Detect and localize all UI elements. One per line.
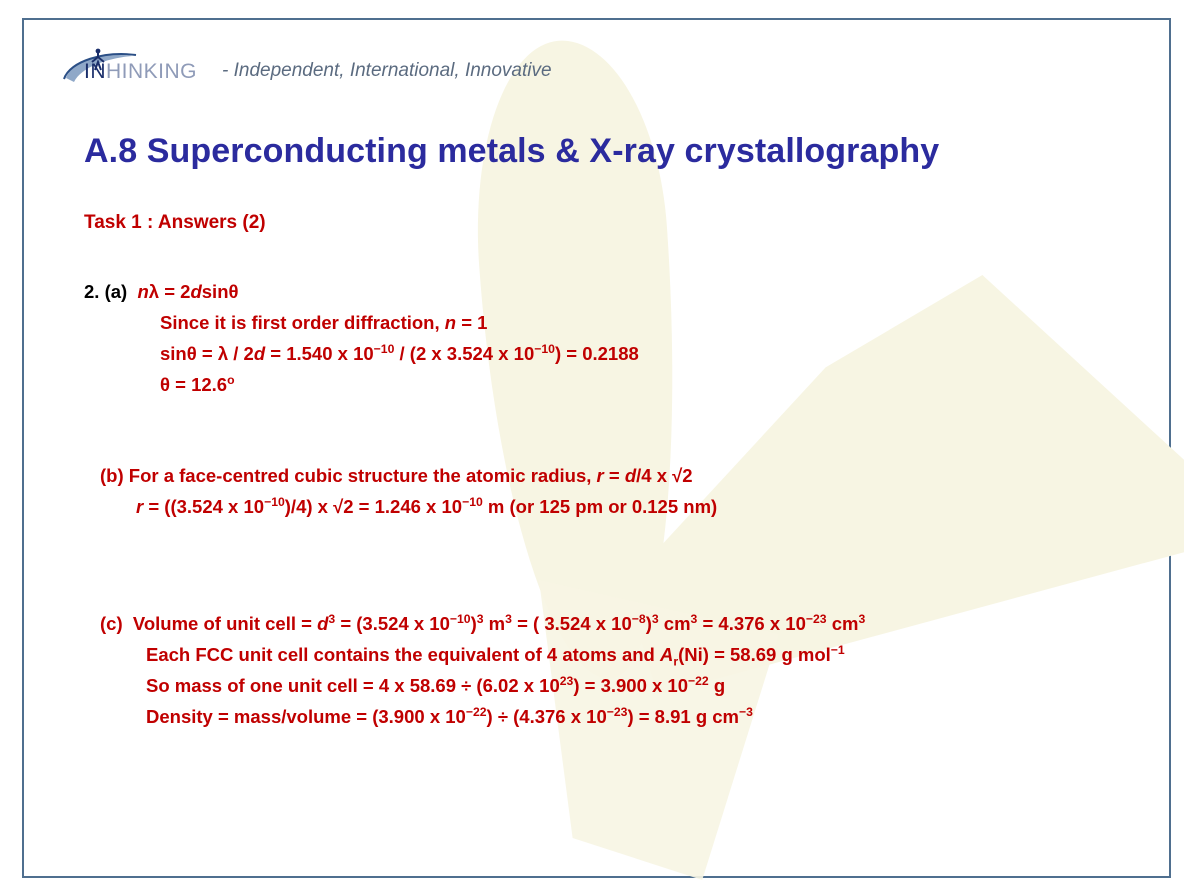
answer-2a-line1: 2. (a) nλ = 2dsinθ [84,276,639,307]
answer-2c-line1: (c) Volume of unit cell = d3 = (3.524 x … [100,608,865,639]
slide-root: INHINKING - Independent, International, … [0,0,1193,896]
answer-block-2c: (c) Volume of unit cell = d3 = (3.524 x … [100,608,865,732]
logo-wordmark-in: IN [84,60,106,83]
answer-2b-line1: (b) For a face-centred cubic structure t… [100,460,717,491]
logo-wordmark: INHINKING [84,60,197,84]
answer-2b-line2: r = ((3.524 x 10−10)/4) x √2 = 1.246 x 1… [100,491,717,522]
brand-tagline: - Independent, International, Innovative [222,60,552,82]
logo-wordmark-thinking: HINKING [106,60,197,83]
task-heading: Task 1 : Answers (2) [84,212,266,234]
answer-2b-label: (b) [100,465,124,486]
answer-block-2a: 2. (a) nλ = 2dsinθ Since it is first ord… [84,276,639,400]
answer-2a-label: 2. (a) [84,281,127,302]
answer-2c-line4: Density = mass/volume = (3.900 x 10−22) … [100,701,865,732]
slide-frame: INHINKING - Independent, International, … [22,18,1171,878]
page-title: A.8 Superconducting metals & X-ray cryst… [84,132,939,171]
inthinking-logo: INHINKING [58,48,208,94]
answer-2c-line3: So mass of one unit cell = 4 x 58.69 ÷ (… [100,670,865,701]
answer-2a-line2: Since it is first order diffraction, n =… [84,307,639,338]
answer-2c-line2: Each FCC unit cell contains the equivale… [100,639,865,670]
brand-header: INHINKING - Independent, International, … [58,48,552,94]
answer-block-2b: (b) For a face-centred cubic structure t… [100,460,717,522]
answer-2c-label: (c) [100,613,123,634]
answer-2a-line4: θ = 12.6o [84,369,639,400]
answer-2a-line3: sinθ = λ / 2d = 1.540 x 10−10 / (2 x 3.5… [84,338,639,369]
